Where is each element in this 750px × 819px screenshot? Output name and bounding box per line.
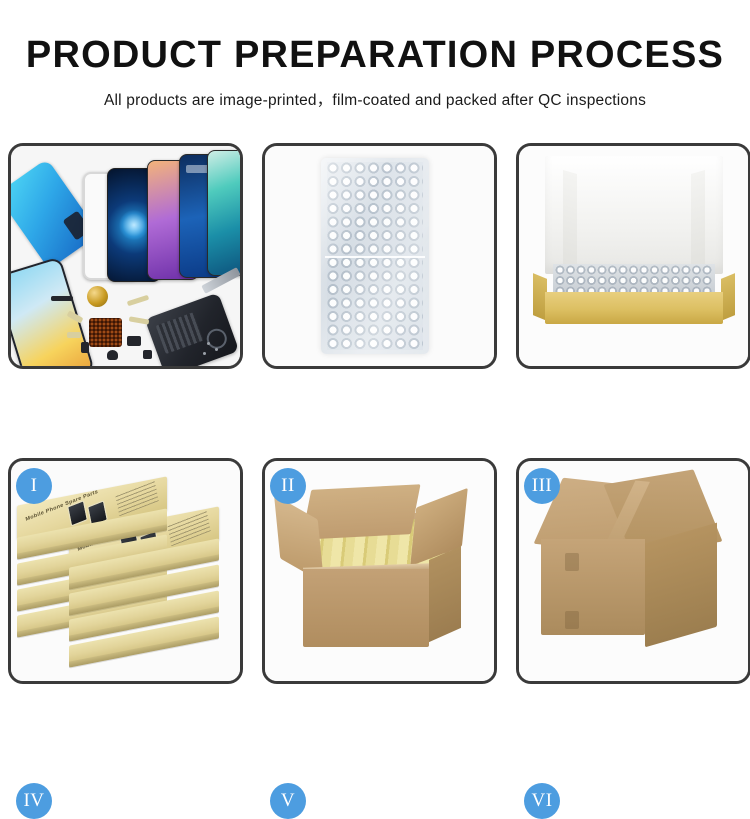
- box-front-kraft: [545, 292, 723, 324]
- screw-part-1: [207, 342, 210, 345]
- header: PRODUCT PREPARATION PROCESS All products…: [0, 0, 750, 110]
- plastic-sheen: [321, 158, 429, 354]
- carton-seam-notch-bottom: [565, 611, 579, 629]
- carton-seam-notch-top: [565, 553, 579, 571]
- box-product-swatch-1: [67, 500, 88, 526]
- box-side-right: [721, 273, 735, 321]
- screw-part-2: [215, 348, 218, 351]
- chip-part-4: [81, 342, 89, 353]
- box-lid-left-flap: [563, 170, 577, 270]
- step-badge-3: III: [524, 468, 560, 504]
- box-stack: Mobile Phone Spare Parts Mobile Phone Sp…: [17, 479, 233, 669]
- chip-part-5: [143, 350, 152, 359]
- step-panel-2: [262, 143, 497, 369]
- box-lid-white: [545, 156, 723, 274]
- ribbon-cable-2: [127, 295, 149, 307]
- ribbon-cable-3: [129, 316, 150, 324]
- step-3-illustration: [519, 146, 748, 366]
- step-badge-1: I: [16, 468, 52, 504]
- sealed-carton-side: [645, 523, 717, 648]
- step-badge-4: IV: [16, 783, 52, 819]
- screw-part-3: [203, 352, 206, 355]
- steps-grid: Mobile Phone Spare Parts Mobile Phone Sp…: [8, 143, 742, 679]
- phone-screen-teal: [207, 150, 243, 276]
- phone-chassis-disassembled: [145, 293, 240, 369]
- product-preparation-infographic: PRODUCT PREPARATION PROCESS All products…: [0, 0, 750, 750]
- step-panel-3: [516, 143, 750, 369]
- page-title: PRODUCT PREPARATION PROCESS: [0, 36, 750, 74]
- step-1-illustration: [11, 146, 240, 366]
- speaker-coil-part: [87, 286, 108, 307]
- carton-flap-top: [301, 484, 420, 540]
- mesh-grid-part: [89, 318, 122, 347]
- step-badge-2: II: [270, 468, 306, 504]
- bubble-wrap-package: [321, 158, 429, 354]
- step-badge-5: V: [270, 783, 306, 819]
- carton-front-wall: [303, 569, 429, 647]
- page-subtitle: All products are image-printed，film-coat…: [0, 88, 750, 110]
- chip-part-1: [51, 296, 73, 301]
- bubble-wrapped-contents: [555, 265, 713, 293]
- box-lid-right-flap: [691, 170, 705, 270]
- ribbon-cable-4: [67, 332, 81, 338]
- carton-side-wall: [429, 546, 461, 642]
- chip-part-2: [127, 336, 141, 346]
- step-2-illustration: [265, 146, 494, 366]
- chip-part-3: [107, 350, 118, 360]
- step-badge-6: VI: [524, 783, 560, 819]
- sealed-carton-front: [541, 539, 645, 635]
- step-panel-1: [8, 143, 243, 369]
